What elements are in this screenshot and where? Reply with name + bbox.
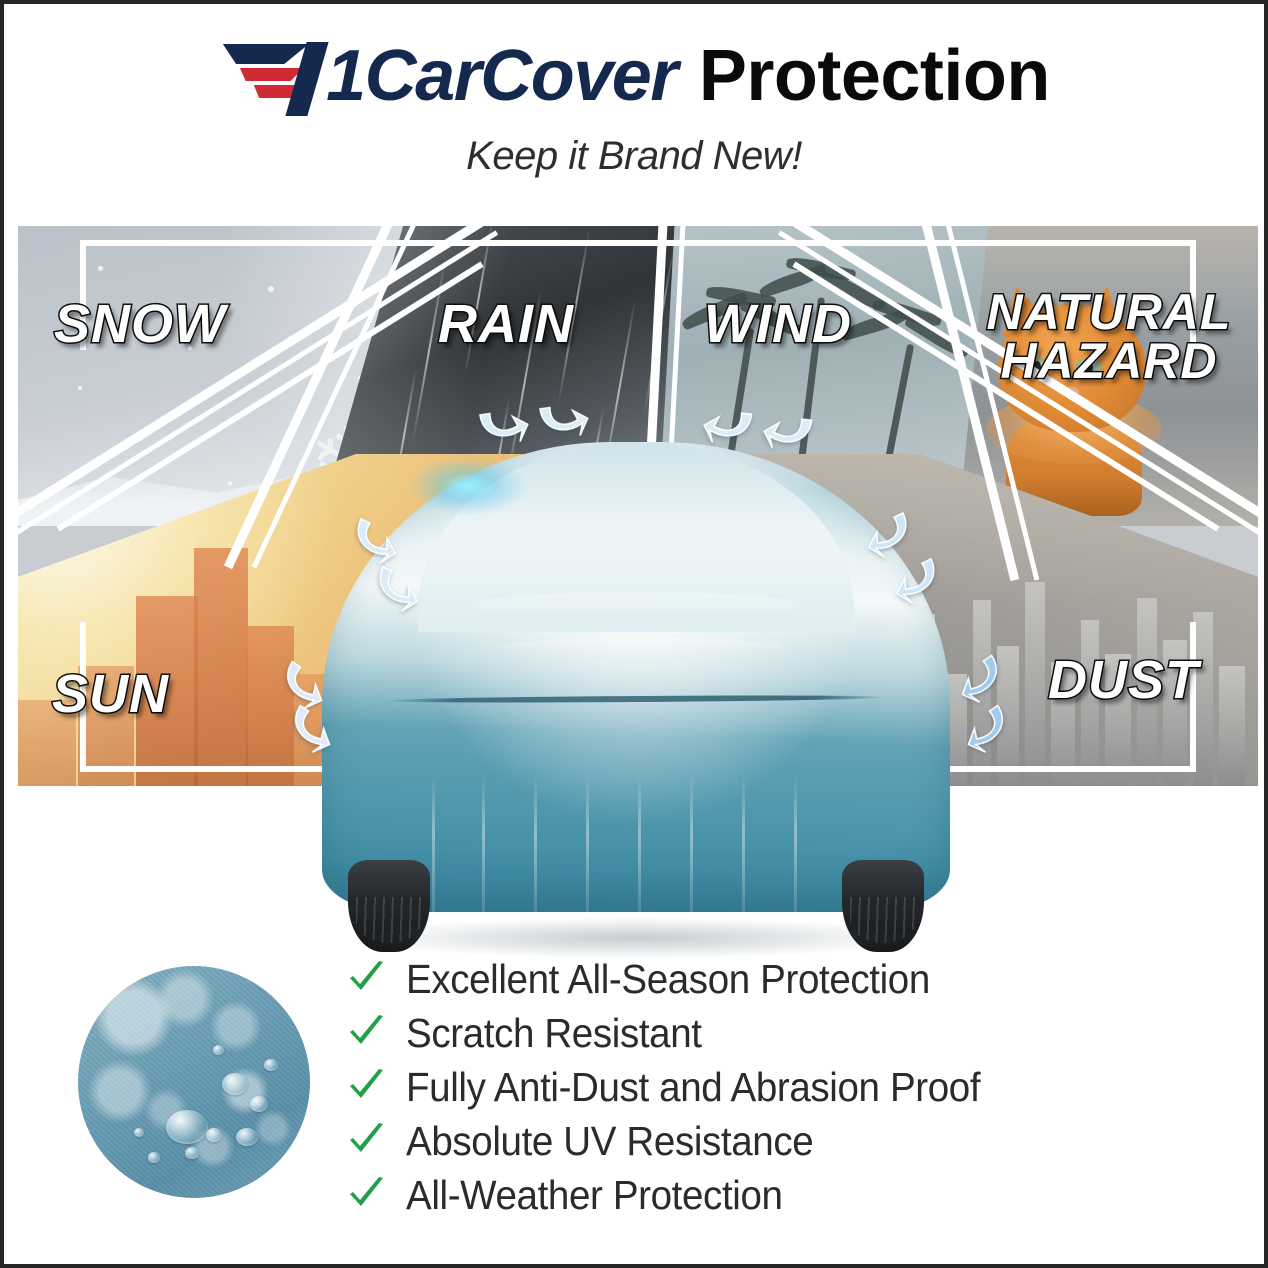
check-icon [346, 1013, 386, 1053]
water-beading-fabric-swatch [68, 956, 320, 1208]
feature-label: Excellent All-Season Protection [406, 956, 930, 1003]
feature-label: All-Weather Protection [406, 1172, 783, 1219]
header: 1CarCover Protection Keep it Brand New! [4, 28, 1264, 179]
shine-glow-icon [408, 456, 528, 516]
list-item: Scratch Resistant [346, 1006, 1166, 1060]
check-icon [346, 1067, 386, 1107]
title-row: 1CarCover Protection [4, 28, 1264, 124]
feature-label: Scratch Resistant [406, 1010, 702, 1057]
list-item: Fully Anti-Dust and Abrasion Proof [346, 1060, 1166, 1114]
check-icon [346, 959, 386, 999]
deflection-arrow-icon [471, 398, 534, 457]
check-icon [346, 1121, 386, 1161]
brand-name: 1CarCover [326, 40, 677, 112]
deflection-arrow-icon [531, 392, 594, 451]
check-icon [346, 1175, 386, 1215]
list-item: Excellent All-Season Protection [346, 952, 1166, 1006]
list-item: All-Weather Protection [346, 1168, 1166, 1222]
feature-list: Excellent All-Season Protection Scratch … [346, 952, 1166, 1222]
1carcover-logo-icon [218, 38, 322, 116]
panel-label-wind: WIND [704, 298, 852, 351]
tagline: Keep it Brand New! [4, 134, 1264, 179]
panel-label-dust: DUST [1048, 654, 1199, 707]
deflection-arrow-icon [759, 405, 820, 463]
product-infographic: 1CarCover Protection Keep it Brand New! … [0, 0, 1268, 1268]
deflection-arrow-icon [699, 399, 760, 457]
panel-label-snow: SNOW [54, 298, 226, 351]
panel-label-natural-hazard: NATURAL HAZARD [966, 288, 1252, 386]
page-title: Protection [699, 40, 1050, 112]
panel-label-rain: RAIN [438, 298, 574, 351]
panel-label-sun: SUN [52, 668, 169, 721]
covered-car-image [322, 442, 950, 952]
list-item: Absolute UV Resistance [346, 1114, 1166, 1168]
feature-label: Absolute UV Resistance [406, 1118, 813, 1165]
feature-label: Fully Anti-Dust and Abrasion Proof [406, 1064, 980, 1111]
